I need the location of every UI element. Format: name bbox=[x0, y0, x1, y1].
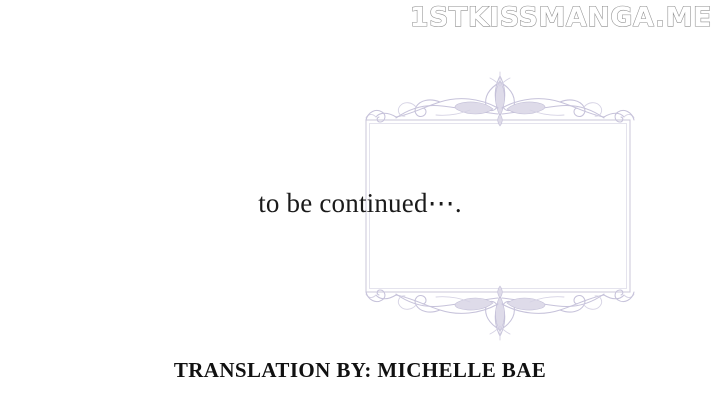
to-be-continued-text: to be continued⋯. bbox=[0, 188, 720, 219]
site-watermark: 1STKISSMANGA.ME bbox=[0, 0, 720, 36]
top-right-flourish bbox=[502, 99, 634, 118]
top-left-flourish bbox=[366, 99, 498, 118]
translation-credit: TRANSLATION BY: MICHELLE BAE bbox=[0, 358, 720, 383]
watermark-text: 1STKISSMANGA.ME bbox=[410, 2, 712, 33]
manga-end-page: 1STKISSMANGA.ME bbox=[0, 0, 720, 400]
bottom-ornament bbox=[366, 286, 634, 340]
bottom-left-flourish bbox=[366, 294, 498, 313]
top-ornament bbox=[366, 72, 634, 126]
top-center-motif bbox=[486, 72, 515, 126]
bottom-right-flourish bbox=[502, 294, 634, 313]
bottom-center-motif bbox=[486, 286, 515, 340]
